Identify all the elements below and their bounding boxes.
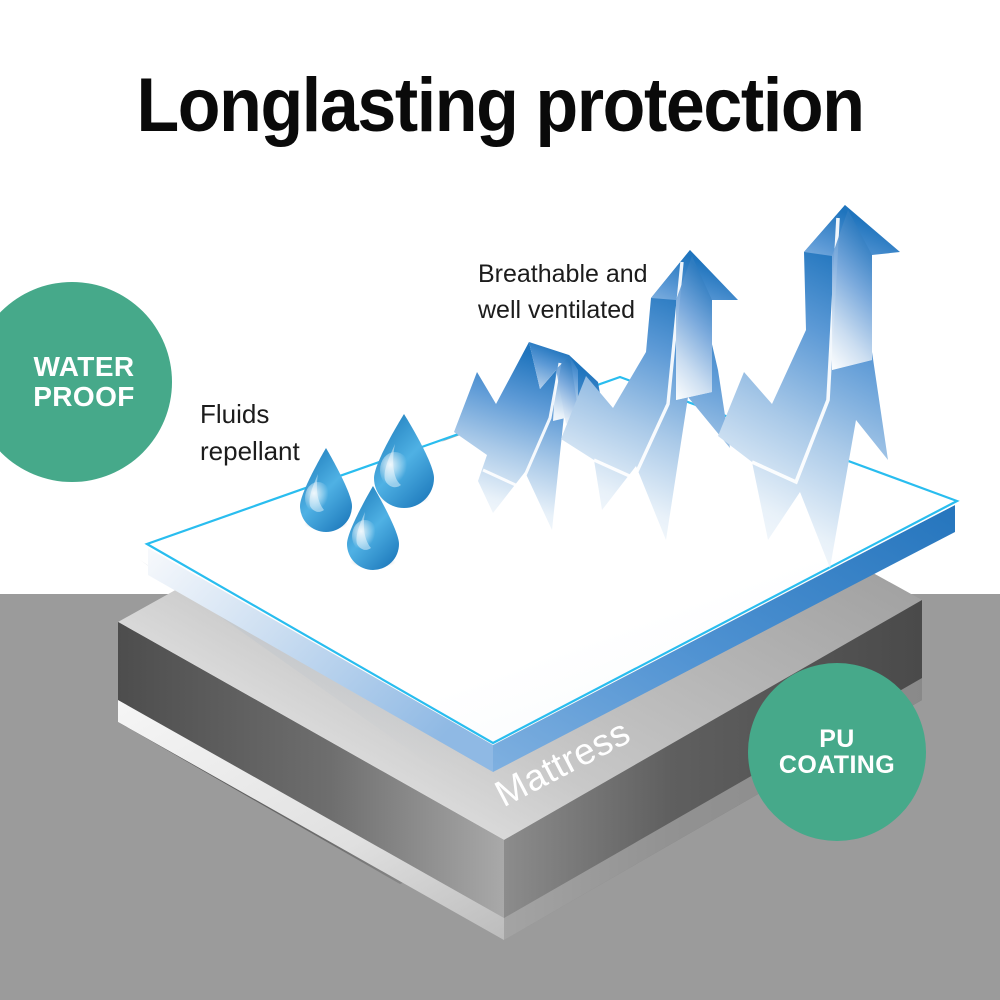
infographic-canvas: Longlasting protection: [0, 0, 1000, 1000]
droplet-3-gloss: [352, 520, 378, 552]
badge-water-proof-line1: WATER: [33, 352, 134, 382]
droplet-2-gloss: [380, 452, 410, 488]
droplet-1-gloss: [305, 482, 331, 514]
droplet-1: [300, 448, 352, 532]
badge-water-proof-line2: PROOF: [33, 382, 135, 412]
annotation-fluids-repellant: Fluids repellant: [200, 396, 300, 470]
badge-pu-coating[interactable]: PU COATING: [748, 663, 926, 841]
droplet-2: [374, 414, 434, 508]
badge-pu-coating-line1: PU: [819, 726, 855, 753]
annotation-breathable: Breathable and well ventilated: [478, 257, 648, 328]
badge-pu-coating-line2: COATING: [779, 752, 895, 779]
mattress-protector-diagram: [0, 0, 1000, 1000]
